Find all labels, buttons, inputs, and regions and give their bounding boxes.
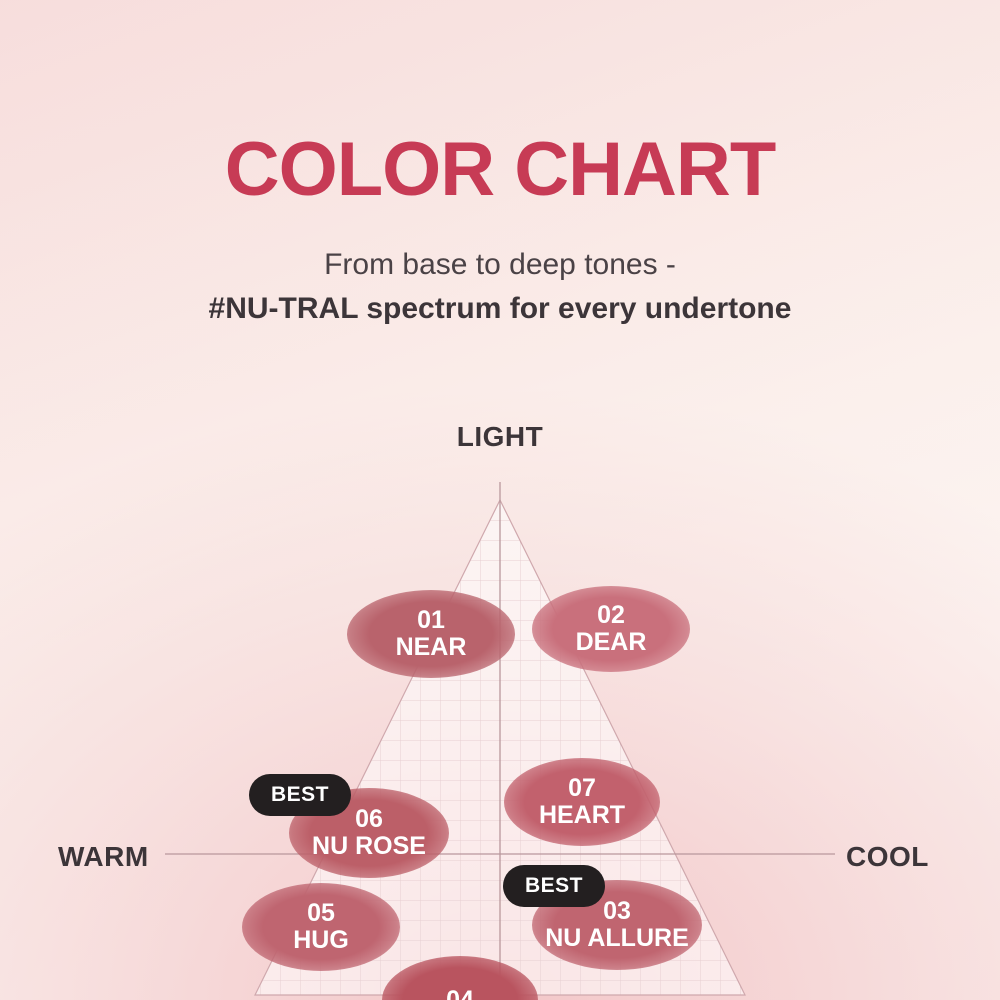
swatch-name: HEART [539, 802, 625, 829]
swatch-number: 06 [355, 806, 383, 833]
chart-axes-svg [0, 440, 1000, 1000]
swatch-number: 01 [417, 607, 445, 634]
swatch-01[interactable]: 01NEAR [347, 590, 515, 678]
header: COLOR CHART From base to deep tones - #N… [0, 0, 1000, 326]
swatch-number: 03 [603, 898, 631, 925]
subtitle-line-1: From base to deep tones - [0, 248, 1000, 282]
swatch-name: NU ROSE [312, 833, 426, 860]
swatch-07[interactable]: 07HEART [504, 758, 660, 846]
subtitle-line-2: #NU-TRAL spectrum for every undertone [0, 292, 1000, 326]
swatch-02[interactable]: 02DEAR [532, 586, 690, 672]
swatch-05[interactable]: 05HUG [242, 883, 400, 971]
best-badge: BEST [249, 774, 351, 816]
page-title: COLOR CHART [0, 132, 1000, 208]
swatch-number: 02 [597, 602, 625, 629]
swatch-name: HUG [293, 927, 349, 954]
swatch-name: NEAR [396, 634, 467, 661]
swatch-number: 05 [307, 900, 335, 927]
swatch-name: DEAR [576, 629, 647, 656]
chart-plot-area [0, 440, 1000, 1000]
best-badge: BEST [503, 865, 605, 907]
swatch-number: 04 [446, 987, 474, 1000]
swatch-number: 07 [568, 775, 596, 802]
color-chart-page: COLOR CHART From base to deep tones - #N… [0, 0, 1000, 1000]
swatch-name: NU ALLURE [545, 925, 689, 952]
